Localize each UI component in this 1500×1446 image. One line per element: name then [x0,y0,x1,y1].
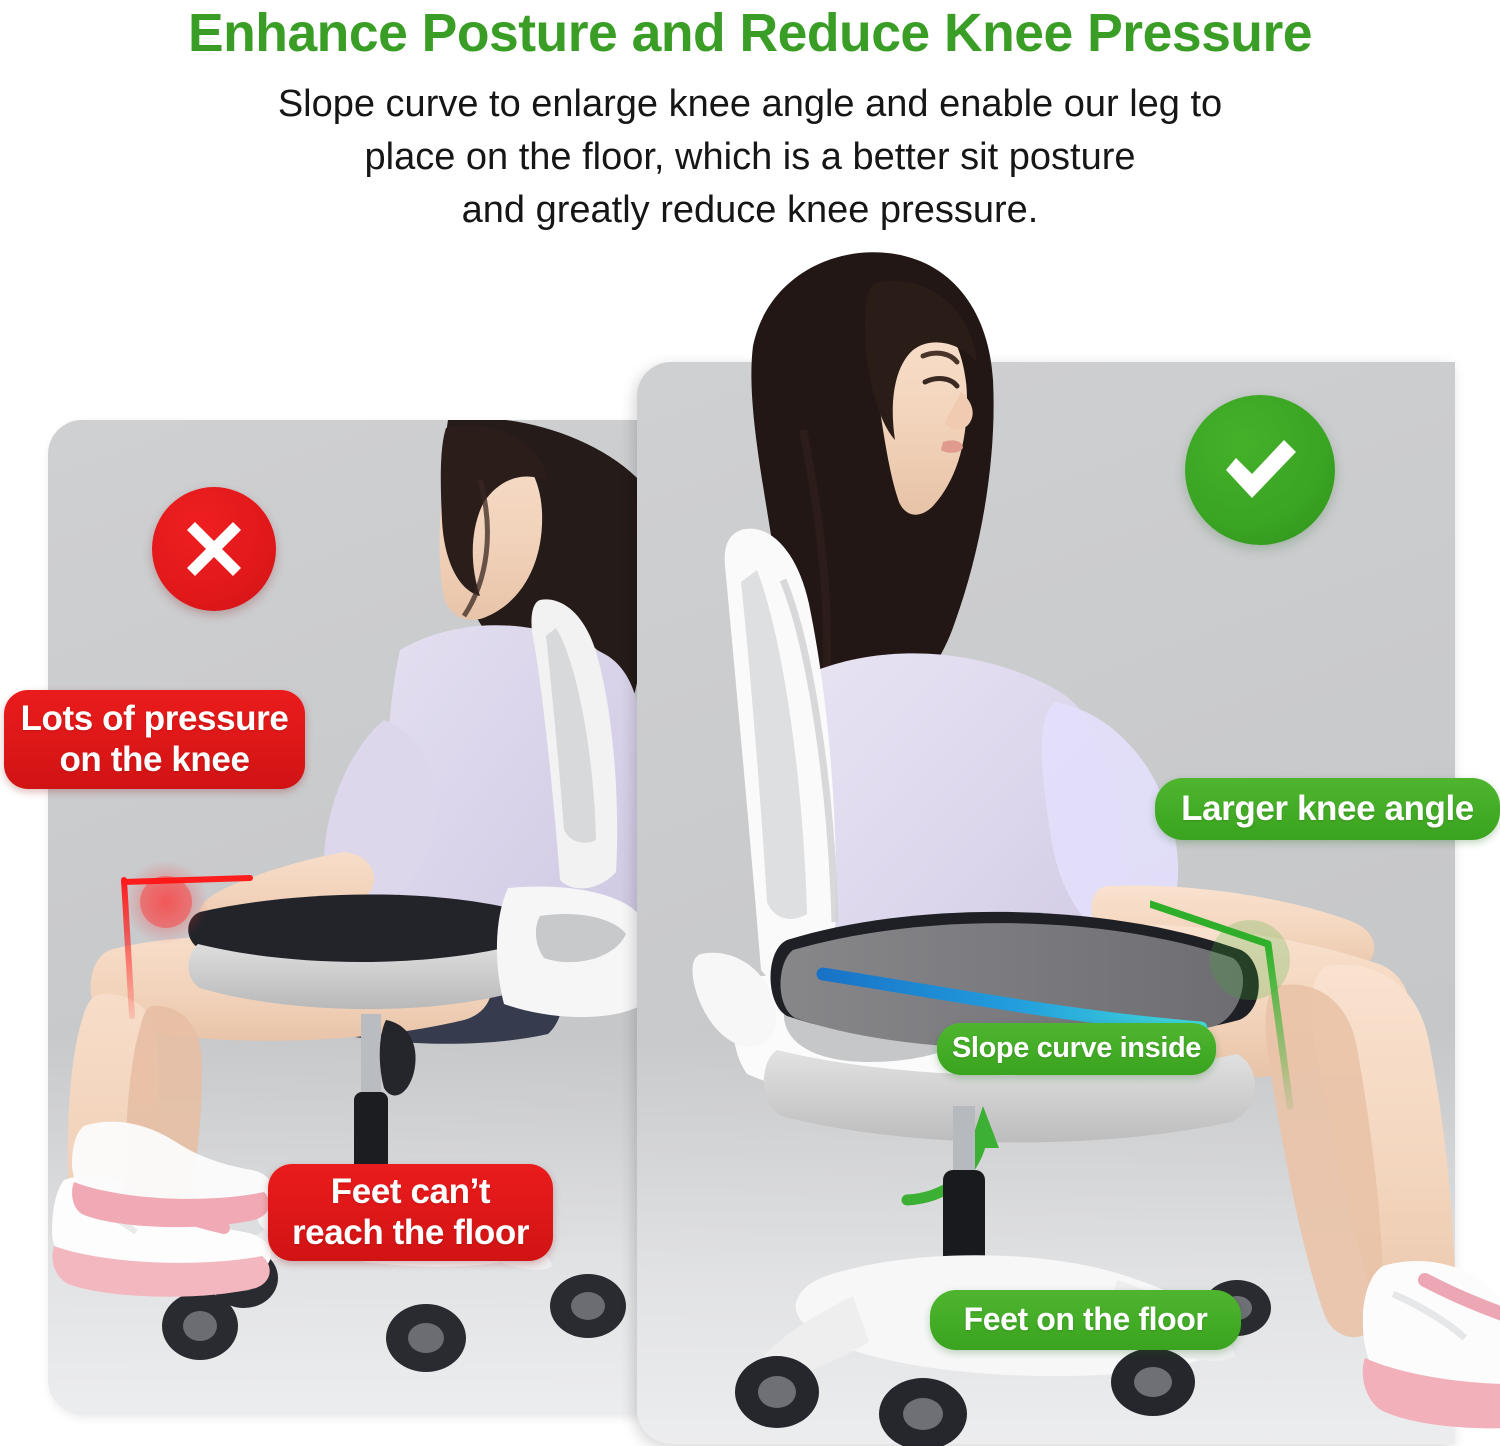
page-subtitle: Slope curve to enlarge knee angle and en… [100,78,1400,237]
label-pressure-on-knee: Lots of pressure on the knee [4,690,305,789]
panel-floor-right [637,1033,1455,1444]
label-line-wrap: Lots of pressure on the knee [21,699,289,780]
label-feet-cant-reach: Feet can’t reach the floor [268,1164,553,1261]
label-line-2: reach the floor [292,1213,529,1252]
label-line-1: Feet can’t [331,1172,490,1211]
label-line-wrap: Feet can’t reach the floor [292,1172,529,1253]
label-feet-on-floor: Feet on the floor [930,1290,1241,1350]
infographic-canvas: Enhance Posture and Reduce Knee Pressure… [0,0,1500,1446]
label-larger-knee-angle: Larger knee angle [1155,778,1500,840]
page-title: Enhance Posture and Reduce Knee Pressure [8,2,1493,64]
bad-posture-panel [48,420,640,1413]
subtitle-line-2: place on the floor, which is a better si… [100,131,1400,184]
cross-icon [152,487,276,611]
subtitle-line-1: Slope curve to enlarge knee angle and en… [100,78,1400,131]
label-line-2: on the knee [59,740,249,779]
good-posture-panel [637,362,1455,1444]
eyebrow [923,353,957,362]
label-slope-curve-inside: Slope curve inside [937,1023,1216,1075]
subtitle-line-3: and greatly reduce knee pressure. [100,184,1400,237]
label-line-1: Lots of pressure [21,699,289,738]
check-icon [1185,395,1335,545]
